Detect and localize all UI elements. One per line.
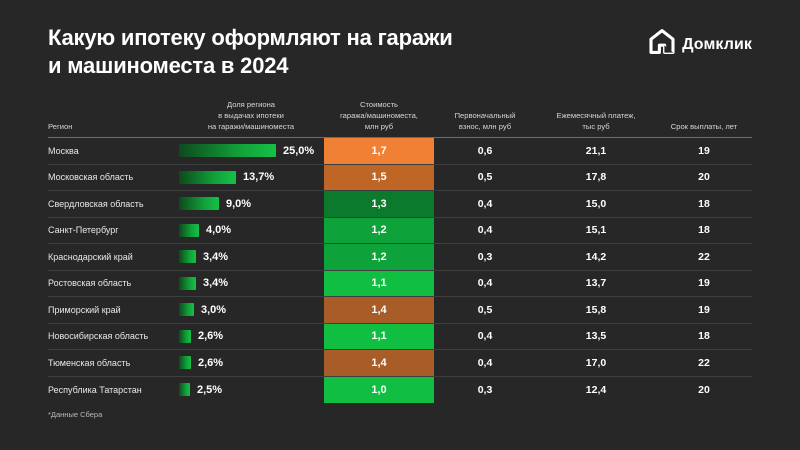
footnote: *Данные Сбера	[48, 410, 102, 419]
page-title-line-2: и машиноместа в 2024	[48, 52, 453, 80]
cell-share: 2,6%	[178, 324, 324, 350]
cell-term: 18	[656, 218, 752, 244]
house-logo-icon	[649, 29, 675, 60]
column-header-cost: Стоимость гаража/машиноместа, млн руб	[324, 99, 434, 137]
table-row: Приморский край3,0%1,40,515,819	[48, 297, 752, 324]
cell-cost: 1,7	[324, 138, 434, 164]
column-header-monthly-payment: Ежемесячный платеж, тыс руб	[536, 110, 656, 137]
cell-share: 4,0%	[178, 218, 324, 244]
cell-down-payment: 0,3	[434, 244, 536, 270]
share-value: 4,0%	[206, 224, 231, 236]
cell-down-payment: 0,4	[434, 350, 536, 376]
cell-share: 25,0%	[178, 138, 324, 164]
cell-region: Республика Татарстан	[48, 377, 178, 404]
cell-monthly-payment: 21,1	[536, 138, 656, 164]
table-row: Санкт-Петербург4,0%1,20,415,118	[48, 218, 752, 245]
cell-region: Тюменская область	[48, 350, 178, 376]
cell-region: Москва	[48, 138, 178, 164]
cell-term: 22	[656, 244, 752, 270]
cell-share: 13,7%	[178, 165, 324, 191]
cell-cost: 1,0	[324, 377, 434, 404]
share-bar	[179, 224, 199, 237]
cell-down-payment: 0,4	[434, 218, 536, 244]
cell-term: 22	[656, 350, 752, 376]
table-body: Москва25,0%1,70,621,119Московская област…	[48, 138, 752, 403]
cell-term: 20	[656, 377, 752, 404]
cell-monthly-payment: 12,4	[536, 377, 656, 404]
share-bar	[179, 277, 196, 290]
share-value: 3,4%	[203, 277, 228, 289]
cell-cost: 1,4	[324, 350, 434, 376]
cell-share: 9,0%	[178, 191, 324, 217]
share-value: 3,0%	[201, 304, 226, 316]
cell-cost: 1,2	[324, 218, 434, 244]
cell-cost: 1,1	[324, 271, 434, 297]
cell-cost: 1,2	[324, 244, 434, 270]
cell-term: 20	[656, 165, 752, 191]
share-value: 13,7%	[243, 171, 274, 183]
page-title-line-1: Какую ипотеку оформляют на гаражи	[48, 24, 453, 52]
data-table: Регион Доля региона в выдачах ипотеки на…	[48, 96, 752, 403]
cell-monthly-payment: 13,7	[536, 271, 656, 297]
cell-down-payment: 0,5	[434, 297, 536, 323]
table-row: Московская область13,7%1,50,517,820	[48, 165, 752, 192]
cell-down-payment: 0,4	[434, 324, 536, 350]
cell-term: 19	[656, 138, 752, 164]
cell-region: Приморский край	[48, 297, 178, 323]
cell-down-payment: 0,5	[434, 165, 536, 191]
table-row: Республика Татарстан2,5%1,00,312,420	[48, 377, 752, 404]
table-row: Ростовская область3,4%1,10,413,719	[48, 271, 752, 298]
cell-monthly-payment: 15,0	[536, 191, 656, 217]
table-row: Краснодарский край3,4%1,20,314,222	[48, 244, 752, 271]
cell-region: Московская область	[48, 165, 178, 191]
column-header-term: Срок выплаты, лет	[656, 121, 752, 137]
share-bar	[179, 356, 191, 369]
share-value: 3,4%	[203, 251, 228, 263]
share-value: 9,0%	[226, 198, 251, 210]
column-header-down-payment: Первоначальный взнос, млн руб	[434, 110, 536, 137]
cell-cost: 1,3	[324, 191, 434, 217]
brand-logo: Домклик	[649, 24, 752, 60]
share-value: 25,0%	[283, 145, 314, 157]
cell-monthly-payment: 15,1	[536, 218, 656, 244]
share-value: 2,6%	[198, 357, 223, 369]
cell-cost: 1,4	[324, 297, 434, 323]
cell-term: 18	[656, 324, 752, 350]
page-title: Какую ипотеку оформляют на гаражи и маши…	[48, 24, 453, 80]
cell-share: 2,6%	[178, 350, 324, 376]
table-row: Москва25,0%1,70,621,119	[48, 138, 752, 165]
cell-down-payment: 0,4	[434, 191, 536, 217]
infographic-root: Какую ипотеку оформляют на гаражи и маши…	[0, 0, 800, 450]
table-row: Новосибирская область2,6%1,10,413,518	[48, 324, 752, 351]
cell-monthly-payment: 17,8	[536, 165, 656, 191]
cell-region: Ростовская область	[48, 271, 178, 297]
cell-term: 18	[656, 191, 752, 217]
share-value: 2,5%	[197, 384, 222, 396]
cell-region: Санкт-Петербург	[48, 218, 178, 244]
column-header-region: Регион	[48, 121, 178, 137]
cell-cost: 1,5	[324, 165, 434, 191]
cell-monthly-payment: 13,5	[536, 324, 656, 350]
share-bar	[179, 171, 236, 184]
share-bar	[179, 383, 190, 396]
cell-region: Новосибирская область	[48, 324, 178, 350]
table-row: Тюменская область2,6%1,40,417,022	[48, 350, 752, 377]
brand-name: Домклик	[682, 36, 752, 54]
header: Какую ипотеку оформляют на гаражи и маши…	[0, 0, 800, 80]
cell-region: Свердловская область	[48, 191, 178, 217]
cell-down-payment: 0,6	[434, 138, 536, 164]
cell-share: 3,0%	[178, 297, 324, 323]
share-value: 2,6%	[198, 330, 223, 342]
cell-monthly-payment: 17,0	[536, 350, 656, 376]
share-bar	[179, 330, 191, 343]
cell-down-payment: 0,3	[434, 377, 536, 404]
cell-term: 19	[656, 297, 752, 323]
cell-share: 2,5%	[178, 377, 324, 404]
share-bar	[179, 250, 196, 263]
cell-share: 3,4%	[178, 244, 324, 270]
table-header-row: Регион Доля региона в выдачах ипотеки на…	[48, 96, 752, 138]
cell-share: 3,4%	[178, 271, 324, 297]
cell-monthly-payment: 14,2	[536, 244, 656, 270]
share-bar	[179, 303, 194, 316]
cell-term: 19	[656, 271, 752, 297]
column-header-share: Доля региона в выдачах ипотеки на гаражи…	[178, 99, 324, 137]
share-bar	[179, 197, 219, 210]
share-bar	[179, 144, 276, 157]
cell-region: Краснодарский край	[48, 244, 178, 270]
cell-cost: 1,1	[324, 324, 434, 350]
cell-down-payment: 0,4	[434, 271, 536, 297]
cell-monthly-payment: 15,8	[536, 297, 656, 323]
table-row: Свердловская область9,0%1,30,415,018	[48, 191, 752, 218]
